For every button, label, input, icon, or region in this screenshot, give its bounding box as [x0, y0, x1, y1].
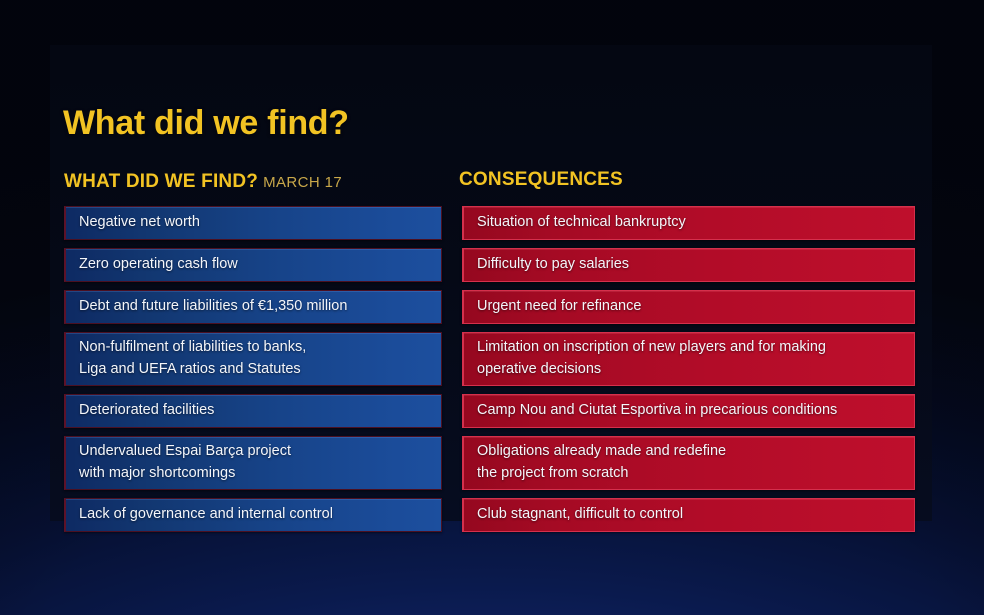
consequence-item: Urgent need for refinance	[462, 290, 915, 324]
finding-item: Zero operating cash flow	[64, 248, 442, 282]
finding-item: Undervalued Espai Barça project with maj…	[64, 436, 442, 490]
slide-stage: What did we find? WHAT DID WE FIND?MARCH…	[0, 0, 984, 615]
findings-header-date: MARCH 17	[263, 174, 342, 191]
consequence-item: Difficulty to pay salaries	[462, 248, 915, 282]
consequences-header-label: CONSEQUENCES	[459, 169, 623, 190]
finding-item: Non-fulfilment of liabilities to banks, …	[64, 332, 442, 386]
finding-item: Negative net worth	[64, 206, 442, 240]
consequence-item: Camp Nou and Ciutat Esportiva in precari…	[462, 394, 915, 428]
finding-item: Deteriorated facilities	[64, 394, 442, 428]
findings-header-label: WHAT DID WE FIND?	[64, 171, 258, 192]
finding-item: Lack of governance and internal control	[64, 498, 442, 532]
consequence-item: Situation of technical bankruptcy	[462, 206, 915, 240]
findings-list: Negative net worthZero operating cash fl…	[64, 206, 442, 532]
consequences-list: Situation of technical bankruptcyDifficu…	[462, 206, 915, 532]
consequence-item: Obligations already made and redefine th…	[462, 436, 915, 490]
consequences-column-header: CONSEQUENCES	[459, 169, 623, 191]
consequence-item: Limitation on inscription of new players…	[462, 332, 915, 386]
consequence-item: Club stagnant, difficult to control	[462, 498, 915, 532]
finding-item: Debt and future liabilities of €1,350 mi…	[64, 290, 442, 324]
findings-column-header: WHAT DID WE FIND?MARCH 17	[64, 171, 342, 193]
page-title: What did we find?	[63, 104, 349, 143]
